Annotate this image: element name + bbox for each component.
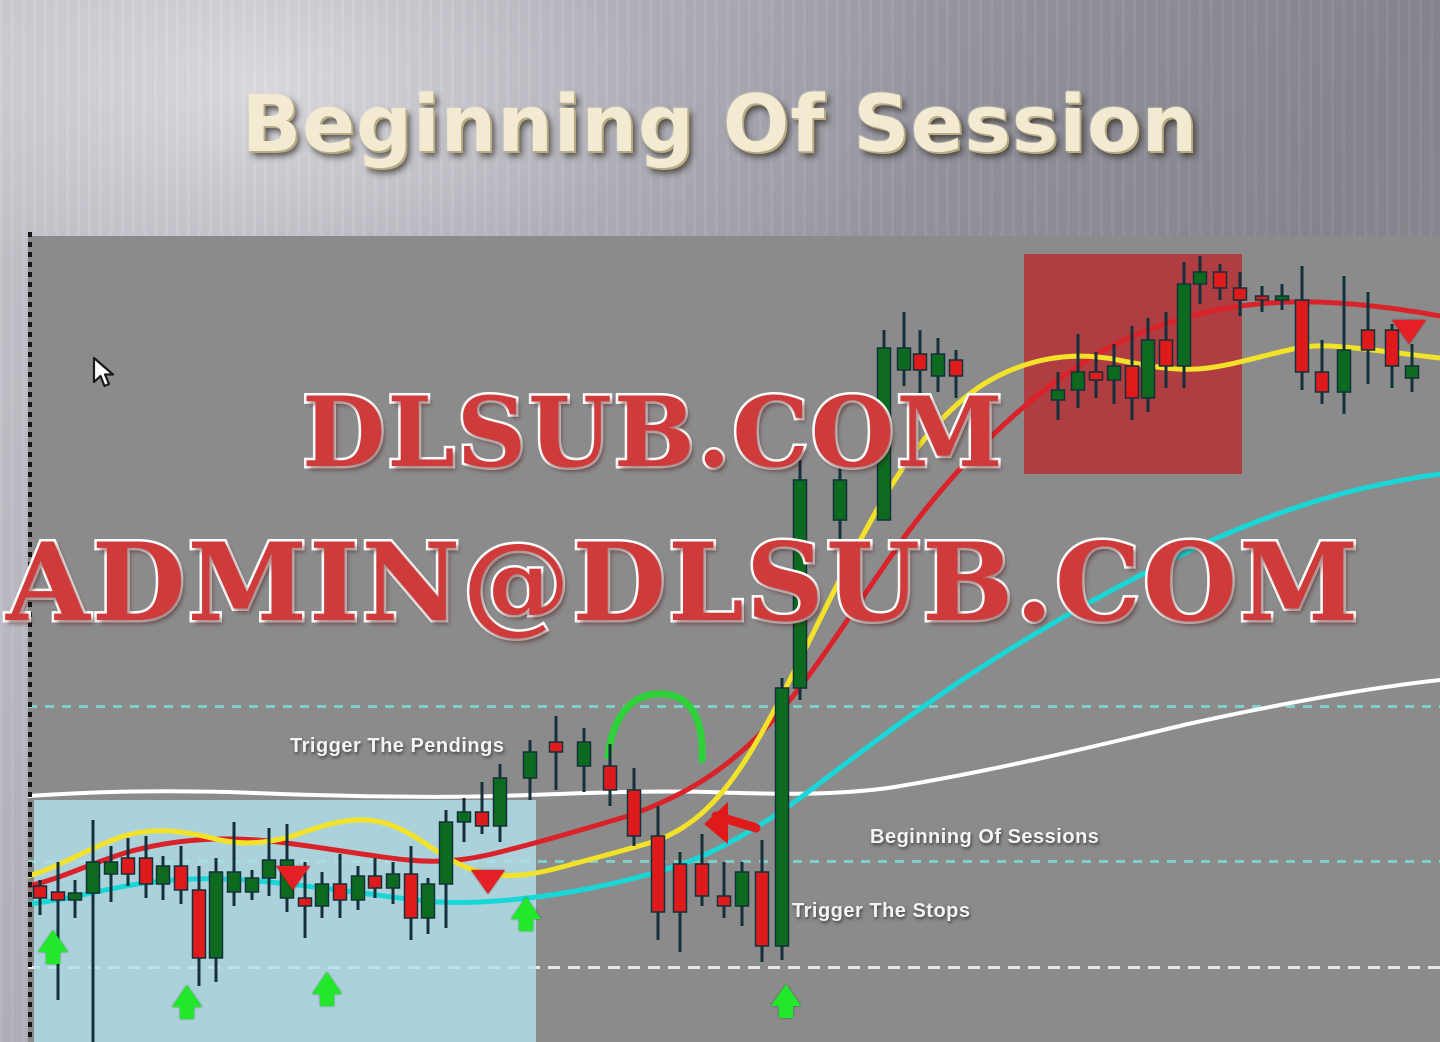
- mouse-pointer-icon: [92, 356, 118, 390]
- annotation-trigger-pendings: Trigger The Pendings: [290, 735, 504, 758]
- annotation-beginning-of-sessions: Beginning Of Sessions: [870, 826, 1099, 849]
- buy-signal-arrow: [172, 985, 202, 1007]
- sell-signal-arrow: [276, 866, 310, 890]
- candlestick-series: [34, 256, 1419, 1042]
- watermark-site: DLSUB.COM: [302, 376, 1005, 489]
- buy-signal-arrow: [38, 930, 68, 952]
- buy-signal-arrow: [771, 984, 801, 1006]
- hand-drawn-red-arrow: [704, 802, 756, 844]
- sell-signal-arrow: [1392, 320, 1426, 344]
- watermark-email: ADMIN@DLSUB.COM: [6, 520, 1360, 646]
- annotation-trigger-stops: Trigger The Stops: [792, 900, 971, 923]
- buy-signal-arrow: [511, 897, 541, 919]
- hand-drawn-arc: [608, 694, 702, 760]
- presentation-slide: Beginning Of Session: [0, 0, 1440, 1042]
- page-title: Beginning Of Session: [0, 80, 1440, 170]
- buy-signal-arrow: [312, 972, 342, 994]
- sell-signal-arrow: [471, 870, 505, 894]
